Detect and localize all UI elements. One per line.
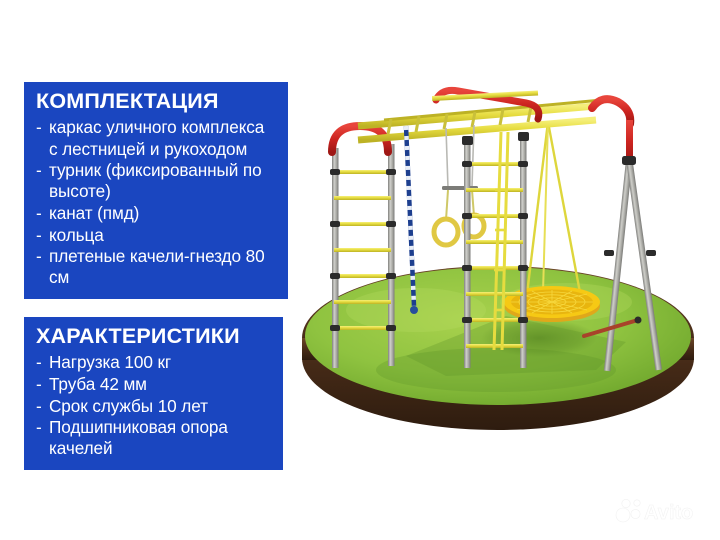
info-panel-harakteristiki: ХАРАКТЕРИСТИКИ - Нагрузка 100 кг - Труба…: [24, 317, 283, 470]
list-item-text: плетеные качели-гнездо 80 см: [49, 246, 265, 287]
list-item-text: турник (фиксированный по высоте): [49, 160, 262, 201]
panel-list-harakteristiki: - Нагрузка 100 кг - Труба 42 мм - Срок с…: [36, 352, 271, 459]
list-item-text: каркас уличного комплекса с лестницей и …: [49, 117, 264, 158]
product-listing-image: КОМПЛЕКТАЦИЯ - каркас уличного комплекса…: [0, 0, 720, 540]
list-item-text: канат (пмд): [49, 203, 139, 223]
panel-list-komplektaciya: - каркас уличного комплекса с лестницей …: [36, 117, 276, 288]
list-item-text: Труба 42 мм: [49, 374, 147, 394]
panel-title-komplektaciya: КОМПЛЕКТАЦИЯ: [36, 89, 276, 114]
info-panel-komplektaciya: КОМПЛЕКТАЦИЯ - каркас уличного комплекса…: [24, 82, 288, 299]
list-item-text: кольца: [49, 225, 104, 245]
avito-watermark: Avito: [614, 496, 706, 526]
list-item: - канат (пмд): [36, 203, 276, 224]
bullet-marker: -: [36, 225, 42, 246]
list-item: - плетеные качели-гнездо 80 см: [36, 246, 276, 288]
bullet-marker: -: [36, 246, 42, 267]
bullet-marker: -: [36, 374, 42, 395]
list-item: - кольца: [36, 225, 276, 246]
bullet-marker: -: [36, 396, 42, 417]
list-item: - Труба 42 мм: [36, 374, 271, 395]
bullet-marker: -: [36, 352, 42, 373]
avito-logo-icon: [616, 499, 640, 522]
list-item: - каркас уличного комплекса с лестницей …: [36, 117, 276, 159]
list-item-text: Подшипниковая опора качелей: [49, 417, 228, 458]
list-item-text: Нагрузка 100 кг: [49, 352, 171, 372]
list-item: - Нагрузка 100 кг: [36, 352, 271, 373]
yellow-horizontal-bars: [358, 100, 602, 140]
product-photo-playground-complex: [296, 70, 708, 430]
panel-title-harakteristiki: ХАРАКТЕРИСТИКИ: [36, 324, 271, 349]
avito-wordmark: Avito: [644, 502, 693, 524]
bullet-marker: -: [36, 203, 42, 224]
gymnastic-rings: [434, 125, 484, 245]
bullet-marker: -: [36, 417, 42, 438]
list-item-text: Срок службы 10 лет: [49, 396, 208, 416]
list-item: - Срок службы 10 лет: [36, 396, 271, 417]
bullet-marker: -: [36, 117, 42, 138]
bullet-marker: -: [36, 160, 42, 181]
list-item: - турник (фиксированный по высоте): [36, 160, 276, 202]
list-item: - Подшипниковая опора качелей: [36, 417, 271, 459]
